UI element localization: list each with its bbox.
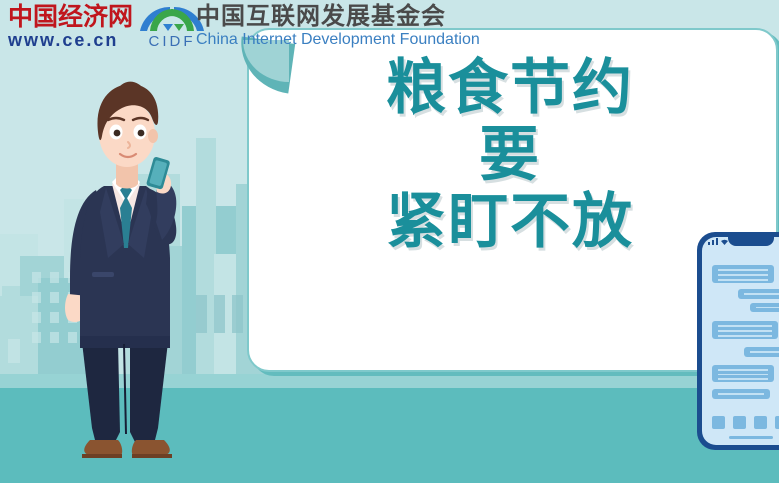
foundation-name-cn: 中国互联网发展基金会 (196, 3, 480, 30)
logo-china-economic-net[interactable]: 中国经济网 www.ce.cn (8, 4, 133, 50)
ce-url: www.ce.cn (8, 31, 133, 50)
ear (148, 129, 158, 143)
foundation-name-en: China Internet Development Foundation (196, 31, 480, 49)
shoe-sole-left (82, 454, 122, 458)
poster-stage: 粮食节约 要 紧盯不放 (0, 0, 779, 483)
jacket-pocket (92, 272, 114, 277)
headline-line-1: 粮食节约 (300, 58, 720, 119)
ce-name-cn: 中国经济网 (8, 4, 133, 30)
phone-screen (702, 237, 779, 445)
trouser-left (82, 342, 120, 444)
phone-notch (728, 237, 774, 246)
chat-bubble (738, 289, 779, 299)
logo-foundation[interactable]: 中国互联网发展基金会 China Internet Development Fo… (196, 3, 480, 49)
phone-home-bar (729, 436, 773, 439)
chat-bubble (744, 347, 779, 357)
trouser-right (130, 342, 168, 444)
shoe-right (132, 440, 170, 456)
shoe-sole-right (132, 454, 172, 458)
businessman-illustration (58, 62, 198, 462)
phone-nav-button[interactable] (754, 416, 767, 429)
trouser-seam (124, 344, 126, 434)
wifi-icon (720, 238, 729, 246)
chat-bubble (712, 265, 774, 283)
signal-icon (708, 238, 718, 245)
pupil-right (138, 130, 145, 137)
phone-nav-button[interactable] (712, 416, 725, 429)
headline-block: 粮食节约 要 紧盯不放 (300, 58, 720, 254)
phone-nav-button[interactable] (775, 416, 779, 429)
pupil-left (114, 130, 121, 137)
headline-line-2: 要 (300, 125, 720, 186)
chat-bubble (712, 389, 770, 399)
chat-bubble (750, 303, 779, 312)
phone-nav-button[interactable] (733, 416, 746, 429)
shoe-left (84, 440, 122, 456)
chat-smartphone[interactable] (697, 232, 779, 450)
chat-bubble (712, 365, 774, 382)
headline-line-3: 紧盯不放 (300, 192, 720, 253)
logo-bar: 中国经济网 www.ce.cn CIDF 中国互联网发展基金会 China In… (0, 0, 779, 58)
chat-bubble (712, 321, 778, 339)
